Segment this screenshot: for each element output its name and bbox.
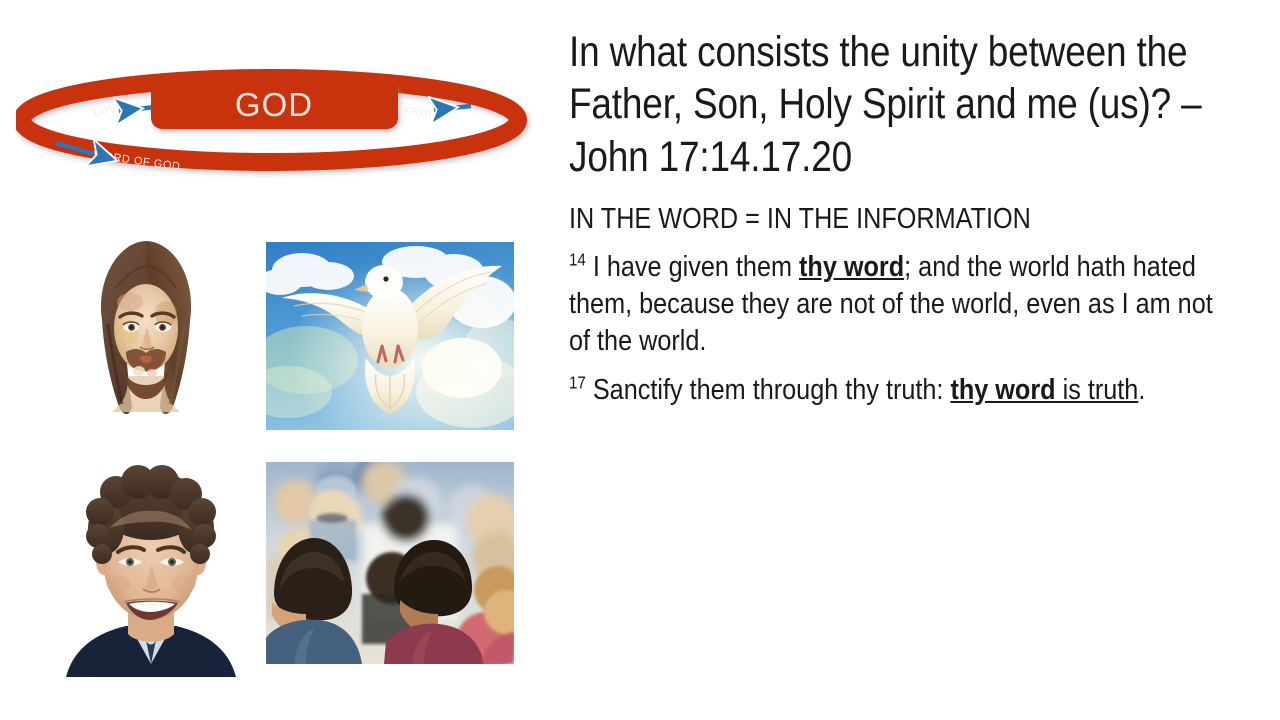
verse-14: 14 I have given them thy word; and the w… [569, 249, 1239, 360]
verse-17: 17 Sanctify them through thy truth: thy … [569, 372, 1239, 409]
verse-17-text-part2: . [1138, 374, 1145, 406]
body-block: IN THE WORD = IN THE INFORMATION 14 I ha… [569, 201, 1239, 409]
verse-17-text-part1: Sanctify them through thy truth: [586, 374, 951, 406]
section-heading: IN THE WORD = IN THE INFORMATION [569, 201, 1239, 237]
dove-in-sky-image [266, 242, 514, 430]
slide-title: In what consists the unity between the F… [569, 26, 1240, 183]
verse-14-number: 14 [569, 249, 586, 269]
verse-14-emphasis: thy word [799, 251, 904, 283]
verse-17-emphasis-bold: thy word [950, 374, 1055, 406]
verse-17-number: 17 [569, 372, 586, 392]
fruit-arrow-icon [434, 106, 471, 110]
jesus-portrait-image [82, 228, 210, 440]
god-cycle-diagram: LOVE FRUIT WORD OF GOD GOD [16, 62, 536, 182]
crowd-of-people-image [266, 462, 514, 664]
god-box-label: GOD [235, 86, 313, 123]
slide-canvas: LOVE FRUIT WORD OF GOD GOD [0, 0, 1280, 720]
ring-label-fruit: FRUIT [404, 105, 441, 121]
man-portrait-image [60, 458, 242, 677]
verse-17-emphasis-underline: is truth [1056, 374, 1139, 406]
diagram-svg: LOVE FRUIT WORD OF GOD GOD [16, 62, 536, 184]
text-column: In what consists the unity between the F… [569, 26, 1241, 421]
verse-14-text-part1: I have given them [586, 251, 799, 283]
